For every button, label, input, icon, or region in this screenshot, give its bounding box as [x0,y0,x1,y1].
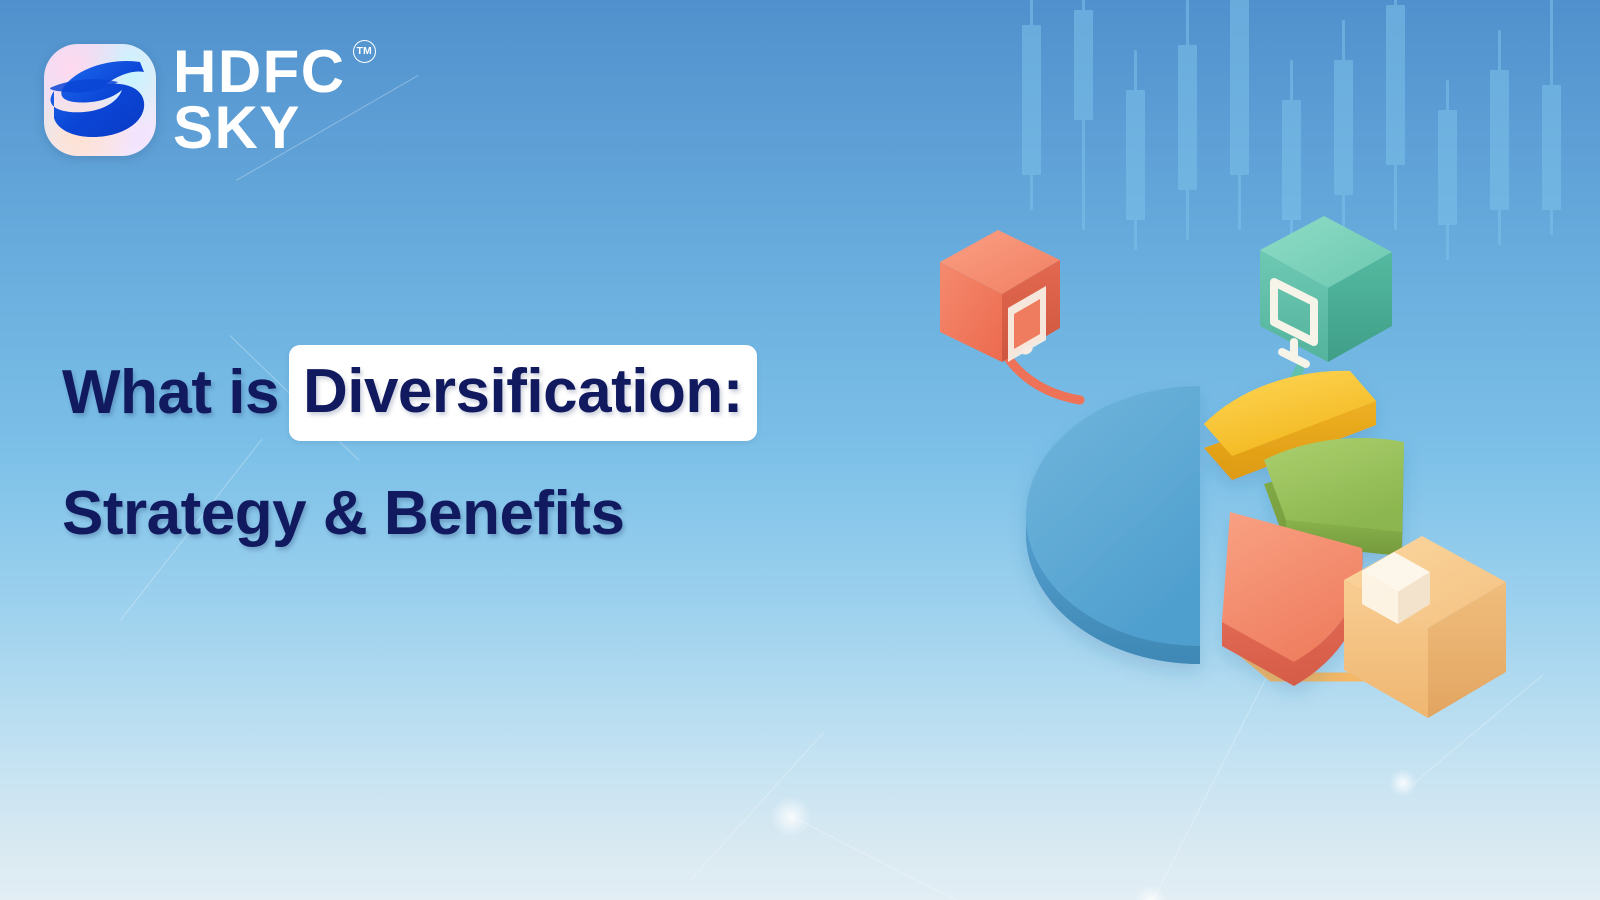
headline-subtitle-text: Strategy & Benefits [62,483,624,545]
logo-line-hdfc: HDFC [173,38,346,105]
hdfc-sky-logo[interactable]: HDFC TM SKY [44,44,346,156]
hdfc-sky-logo-mark [44,44,156,156]
page-title: What is Diversification: Strategy & Bene… [62,345,882,545]
logo-wordmark: HDFC TM SKY [173,44,346,156]
desktop-monitor-cube [1260,216,1392,364]
mobile-phone-cube [940,230,1060,362]
pie-slice-blue [1026,386,1200,664]
headline-plain-text: What is [62,362,279,424]
package-box-cube [1344,536,1506,718]
headline-line-2: Strategy & Benefits [62,483,882,545]
headline-highlight-text: Diversification: [289,345,757,441]
banner: HDFC TM SKY What is Diversification: Str… [0,0,1600,900]
logo-line-sky: SKY [173,100,346,156]
headline-line-1: What is Diversification: [62,345,882,441]
3d-diversification-pie-illustration [900,190,1560,750]
trademark-icon: TM [353,40,376,63]
